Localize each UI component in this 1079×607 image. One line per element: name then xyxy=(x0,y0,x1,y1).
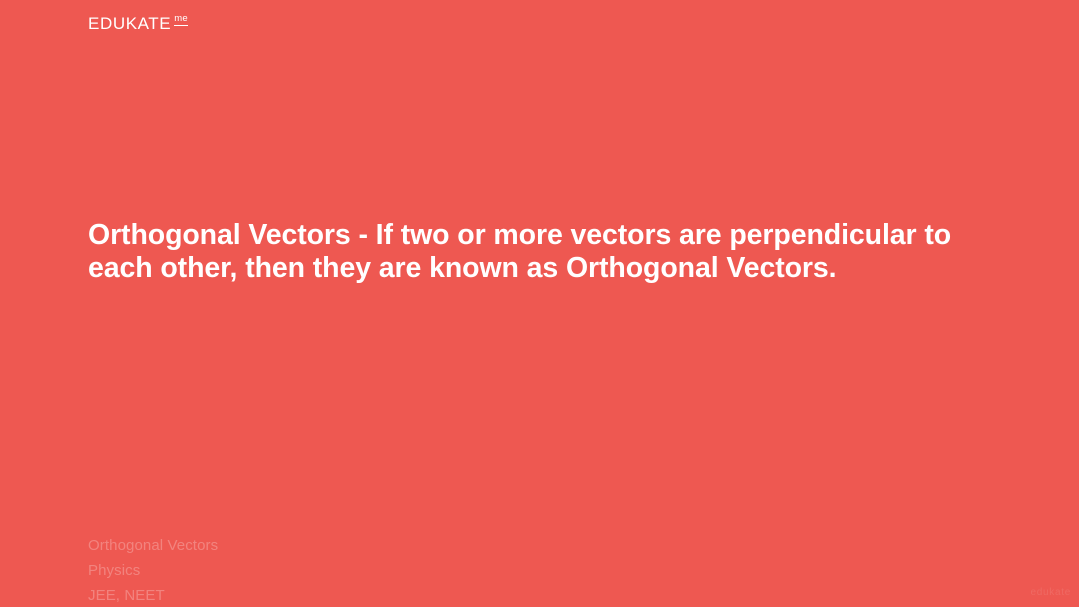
brand-logo[interactable]: EDUKATE me xyxy=(88,15,188,32)
brand-suffix: me xyxy=(174,14,188,26)
slide-canvas: EDUKATE me Orthogonal Vectors - If two o… xyxy=(0,0,1079,607)
footer-metadata: Orthogonal Vectors Physics JEE, NEET xyxy=(88,533,218,607)
brand-name: EDUKATE xyxy=(88,15,171,32)
footer-subject: Physics xyxy=(88,558,218,583)
slide-statement: Orthogonal Vectors - If two or more vect… xyxy=(88,219,968,285)
footer-topic: Orthogonal Vectors xyxy=(88,533,218,558)
footer-exams: JEE, NEET xyxy=(88,583,218,607)
corner-watermark: edukate xyxy=(1031,587,1072,598)
